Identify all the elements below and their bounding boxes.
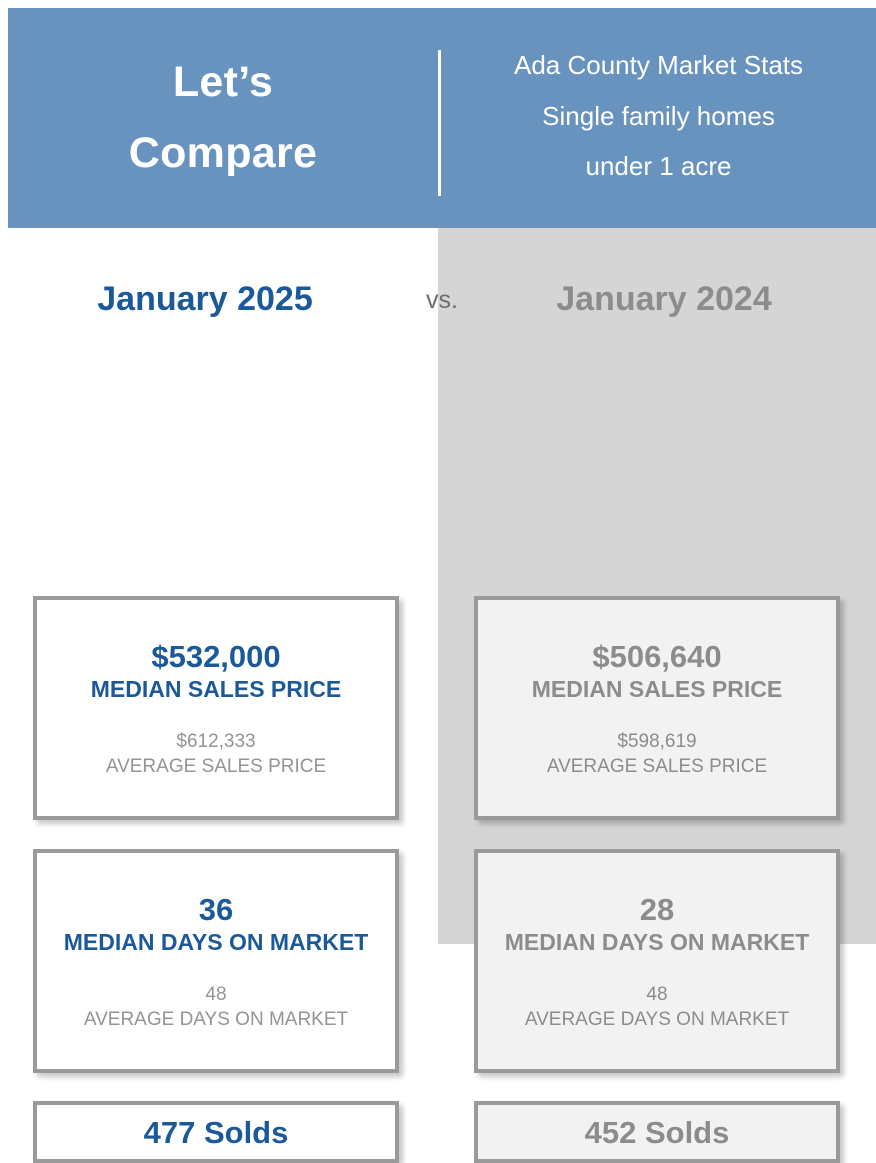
stat-card-sales-price-prior: $506,640 MEDIAN SALES PRICE $598,619 AVE… bbox=[474, 596, 840, 820]
stat-card-solds-prior: 452 Solds bbox=[474, 1101, 840, 1163]
stat-card-solds-current: 477 Solds bbox=[33, 1101, 399, 1163]
median-days-on-market-label-current: MEDIAN DAYS ON MARKET bbox=[64, 929, 369, 957]
header-subtitle-line-1: Ada County Market Stats bbox=[514, 40, 803, 91]
solds-value-prior: 452 Solds bbox=[585, 1117, 730, 1148]
median-days-on-market-value-prior: 28 bbox=[640, 891, 674, 930]
average-days-on-market-value-prior: 48 bbox=[646, 983, 667, 1008]
header-subtitle-group: Ada County Market Stats Single family ho… bbox=[441, 8, 876, 228]
prior-period-heading: January 2024 bbox=[474, 280, 854, 319]
average-sales-price-label-prior: AVERAGE SALES PRICE bbox=[547, 755, 767, 779]
average-sales-price-value-prior: $598,619 bbox=[617, 730, 696, 755]
median-sales-price-label-current: MEDIAN SALES PRICE bbox=[91, 676, 341, 704]
versus-label: vs. bbox=[410, 286, 474, 315]
average-days-on-market-value-current: 48 bbox=[205, 983, 226, 1008]
median-days-on-market-label-prior: MEDIAN DAYS ON MARKET bbox=[505, 929, 810, 957]
stat-card-days-on-market-prior: 28 MEDIAN DAYS ON MARKET 48 AVERAGE DAYS… bbox=[474, 849, 840, 1073]
stat-card-days-on-market-current: 36 MEDIAN DAYS ON MARKET 48 AVERAGE DAYS… bbox=[33, 849, 399, 1073]
solds-value-current: 477 Solds bbox=[144, 1117, 289, 1148]
header-subtitle-line-2: Single family homes bbox=[542, 91, 775, 142]
average-sales-price-label-current: AVERAGE SALES PRICE bbox=[106, 755, 326, 779]
stat-card-sales-price-current: $532,000 MEDIAN SALES PRICE $612,333 AVE… bbox=[33, 596, 399, 820]
median-days-on-market-value-current: 36 bbox=[199, 891, 233, 930]
header-title-line-1: Let’s bbox=[173, 47, 273, 118]
header-subtitle-line-3: under 1 acre bbox=[586, 141, 732, 192]
average-sales-price-value-current: $612,333 bbox=[176, 730, 255, 755]
average-days-on-market-label-current: AVERAGE DAYS ON MARKET bbox=[84, 1008, 348, 1032]
average-days-on-market-label-prior: AVERAGE DAYS ON MARKET bbox=[525, 1008, 789, 1032]
median-sales-price-value-prior: $506,640 bbox=[592, 638, 721, 677]
current-period-heading: January 2025 bbox=[0, 280, 410, 319]
column-heading-row: January 2025 vs. January 2024 bbox=[0, 228, 876, 358]
market-stats-infographic: Let’s Compare Ada County Market Stats Si… bbox=[0, 0, 876, 954]
header-title-line-2: Compare bbox=[129, 118, 317, 189]
median-sales-price-value-current: $532,000 bbox=[151, 638, 280, 677]
median-sales-price-label-prior: MEDIAN SALES PRICE bbox=[532, 676, 782, 704]
header-title-group: Let’s Compare bbox=[8, 8, 438, 228]
comparison-body: January 2025 vs. January 2024 $532,000 M… bbox=[0, 228, 876, 954]
header-band: Let’s Compare Ada County Market Stats Si… bbox=[8, 8, 876, 228]
